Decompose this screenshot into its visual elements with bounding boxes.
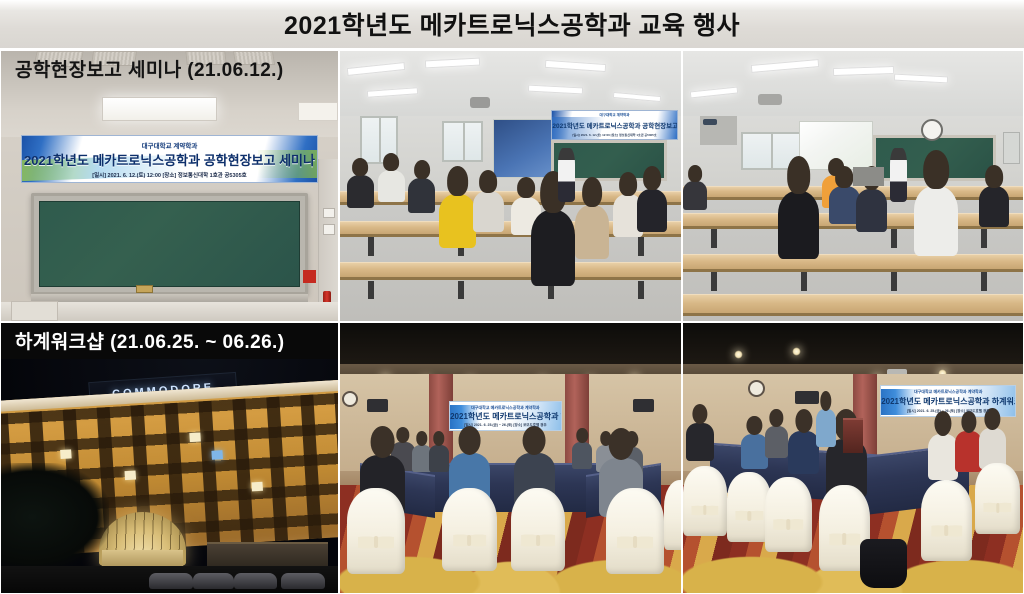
- chair-bow: [984, 500, 1011, 515]
- row-caption-workshop: 하계워크샵 (21.06.25. ~ 06.26.): [1, 323, 338, 359]
- head: [416, 431, 427, 446]
- banner-subtitle-text: 대구대학교 메카트로닉스공학과 계약학과: [881, 389, 1015, 395]
- banquet-chair-cover: [442, 488, 497, 572]
- parked-car: [149, 573, 193, 589]
- student-figure: [575, 205, 609, 259]
- ceiling-downlight: [734, 350, 743, 359]
- chair-bow: [829, 530, 861, 549]
- page-header-band: 2021학년도 메카트로닉스공학과 교육 행사: [0, 0, 1024, 48]
- chair-bow: [774, 516, 804, 533]
- workshop-banner: 대구대학교 메카트로닉스공학과 계약학과 2021학년도 메카트로닉스공학과 하…: [880, 385, 1016, 417]
- student-figure: [914, 186, 958, 256]
- row-caption-seminar: 공학현장보고 세미나 (21.06.12.): [1, 51, 338, 87]
- parked-car: [234, 573, 278, 589]
- lectern: [853, 167, 884, 186]
- desk-legs: [340, 237, 681, 256]
- photo-hotel-night: COMMODORE: [1, 323, 338, 593]
- banquet-chair-cover: [765, 477, 813, 553]
- head: [370, 426, 395, 458]
- ceiling: [683, 323, 1023, 369]
- chair-bow: [358, 533, 394, 552]
- projector: [758, 94, 782, 105]
- banquet-chair-cover: [511, 488, 566, 572]
- lit-window: [252, 482, 264, 492]
- event-photo-collage-page: 2021학년도 메카트로닉스공학과 교육 행사 대구대학교 계약학과 2021학…: [0, 0, 1024, 594]
- banner-subtitle-text: 대구대학교 계약학과: [22, 140, 317, 150]
- presenter-figure: [816, 409, 836, 447]
- head: [935, 411, 952, 436]
- photo-cell-hotel-night: COMMODORE: [0, 322, 339, 594]
- student-figure: [856, 189, 887, 232]
- photo-cell-seminar-audience-front: 대구대학교 계약학과 2021학년도 메카트로닉스공학과 공학현장보고 세미나 …: [339, 50, 682, 322]
- student-figure: [347, 175, 374, 207]
- student-figure: [473, 191, 504, 232]
- desk-row: [683, 294, 1023, 316]
- banner-info-text: [일시] 2021. 6. 12.(토) 12:00 [장소] 정보통신대학 1…: [22, 171, 317, 179]
- window: [442, 121, 483, 162]
- head: [576, 428, 587, 443]
- ceiling-light: [298, 102, 338, 121]
- head: [433, 431, 444, 446]
- backpack: [860, 539, 908, 588]
- speaker: [367, 399, 387, 413]
- participant-figure: [765, 426, 789, 458]
- student-figure: [778, 191, 819, 259]
- participant-figure: [928, 434, 959, 480]
- wall-clock: [748, 380, 765, 397]
- head: [747, 416, 762, 435]
- student-figure: [979, 186, 1010, 227]
- desk-row: [683, 254, 1023, 273]
- banquet-chair-cover: [921, 480, 972, 561]
- lit-window: [189, 433, 201, 443]
- student-figure: [683, 181, 707, 211]
- banner-info-text: [일시] 2021. 6. 25.(금) ~ 26.(토) [장소] 코모도호텔…: [881, 409, 1015, 414]
- participant-figure: [572, 442, 592, 469]
- banner-info-text: [일시] 2021. 6. 25.(금) ~ 26.(토) [장소] 코모도호텔…: [450, 423, 561, 428]
- chair-bow: [617, 533, 653, 552]
- student-figure: [829, 186, 860, 224]
- door: [1003, 132, 1020, 164]
- banner-title-text: 2021학년도 메카트로닉스공학과 하계워크숍: [450, 411, 561, 422]
- projector: [470, 97, 490, 108]
- desk-legs: [340, 281, 681, 300]
- photo-workshop-table: 대구대학교 메카트로닉스공학과 계약학과 2021학년도 메카트로닉스공학과 하…: [340, 323, 681, 593]
- banquet-chair-cover: [683, 466, 727, 536]
- participant-figure: [429, 445, 449, 472]
- photo-seminar-audience-side: [683, 51, 1023, 321]
- tree-silhouette: [1, 463, 109, 571]
- photo-cell-seminar-audience-side: [682, 50, 1024, 322]
- light-switch: [323, 224, 335, 235]
- banner-subtitle-text: 대구대학교 계약학과: [552, 113, 676, 118]
- emergency-sign: [303, 270, 316, 284]
- chair-bow: [736, 508, 763, 523]
- head: [458, 426, 481, 455]
- desk-legs: [683, 272, 1023, 291]
- chalkboard-eraser: [136, 285, 153, 294]
- chalkboard: [39, 201, 299, 288]
- speaker: [795, 391, 819, 405]
- banner-subtitle-text: 대구대학교 메카트로닉스공학과 계약학과: [450, 405, 561, 411]
- chalkboard-frame: [31, 193, 307, 296]
- chair-bow: [931, 522, 963, 540]
- chair-bow: [691, 503, 718, 518]
- banquet-chair-cover: [347, 488, 405, 574]
- banquet-chair-cover: [606, 488, 664, 574]
- banner-title-text: 2021학년도 메카트로닉스공학과 공학현장보고 세미나: [552, 120, 676, 130]
- chair-bow: [453, 531, 487, 549]
- podium: [843, 418, 863, 453]
- student-figure: [531, 210, 575, 286]
- banquet-chair-cover: [664, 480, 681, 550]
- light-switch: [323, 208, 335, 219]
- wall-clock: [342, 391, 358, 407]
- workshop-banner: 대구대학교 메카트로닉스공학과 계약학과 2021학년도 메카트로닉스공학과 하…: [449, 401, 562, 431]
- banner-info-text: [일시] 2021. 6. 12.(토) 12:00 [장소] 정보통신대학 1…: [552, 133, 676, 137]
- page-title: 2021학년도 메카트로닉스공학과 교육 행사: [284, 6, 740, 42]
- photo-cell-seminar-banner-room: 대구대학교 계약학과 2021학년도 메카트로닉스공학과 공학현장보고 세미나 …: [0, 50, 339, 322]
- desk-legs: [683, 229, 1023, 248]
- podium: [11, 301, 58, 321]
- photo-seminar-banner-room: 대구대학교 계약학과 2021학년도 메카트로닉스공학과 공학현장보고 세미나 …: [1, 51, 338, 321]
- seminar-banner: 대구대학교 계약학과 2021학년도 메카트로닉스공학과 공학현장보고 세미나 …: [21, 135, 318, 184]
- presenter-figure: [890, 148, 907, 202]
- student-figure: [408, 178, 435, 213]
- participant-figure: [741, 434, 768, 469]
- head: [523, 426, 546, 455]
- ceiling-light: [102, 97, 217, 121]
- banner-title-text: 2021학년도 메카트로닉스공학과 공학현장보고 세미나: [22, 150, 317, 169]
- head: [609, 428, 634, 460]
- photo-workshop-presenter: 대구대학교 메카트로닉스공학과 계약학과 2021학년도 메카트로닉스공학과 하…: [683, 323, 1023, 593]
- participant-figure: [686, 423, 713, 461]
- banquet-chair-cover: [975, 463, 1019, 533]
- photo-cell-workshop-presenter: 대구대학교 메카트로닉스공학과 계약학과 2021학년도 메카트로닉스공학과 하…: [682, 322, 1024, 594]
- seminar-banner: 대구대학교 계약학과 2021학년도 메카트로닉스공학과 공학현장보고 세미나 …: [551, 110, 677, 140]
- speaker: [703, 119, 717, 126]
- chair-bow: [521, 531, 555, 549]
- photo-seminar-audience-front: 대구대학교 계약학과 2021학년도 메카트로닉스공학과 공학현장보고 세미나 …: [340, 51, 681, 321]
- student-figure: [378, 170, 405, 202]
- lit-window-blue: [211, 450, 223, 460]
- banner-title-text: 2021학년도 메카트로닉스공학과 하계워크숍: [881, 396, 1015, 407]
- wall-clock: [921, 119, 943, 141]
- speaker: [633, 399, 653, 413]
- presenter-figure: [558, 148, 575, 202]
- lit-window: [125, 471, 137, 481]
- parked-car: [281, 573, 325, 589]
- desk-row: [340, 262, 681, 281]
- photo-grid: 대구대학교 계약학과 2021학년도 메카트로닉스공학과 공학현장보고 세미나 …: [0, 50, 1024, 594]
- ceiling: [340, 323, 681, 369]
- parked-car: [193, 573, 233, 589]
- student-figure: [637, 189, 668, 232]
- lit-window: [60, 450, 72, 460]
- participant-figure: [788, 431, 819, 474]
- photo-cell-workshop-table: 대구대학교 메카트로닉스공학과 계약학과 2021학년도 메카트로닉스공학과 하…: [339, 322, 682, 594]
- student-figure: [439, 194, 477, 248]
